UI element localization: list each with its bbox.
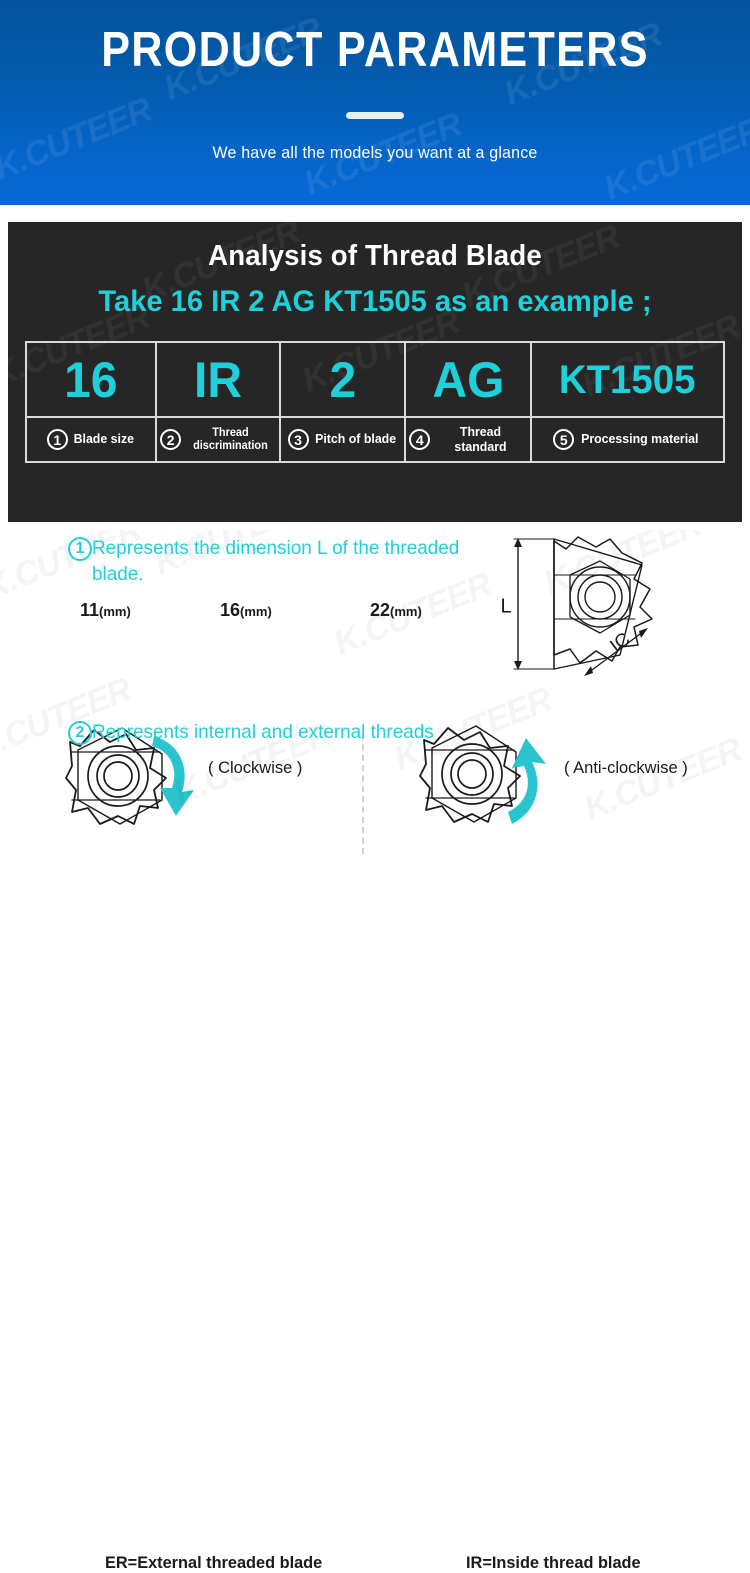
code-label-text: Processing material [581,432,698,446]
code-label-thread-standard: 4 Thread standard [406,418,532,461]
caption-internal-blade: IR=Inside thread blade [466,1553,641,1573]
panel-title: Analysis of Thread Blade [26,240,723,273]
circled-number-icon: 5 [553,429,574,450]
insert-dimension-svg: L IC [492,527,742,682]
code-label-text: Thread discrimination [187,427,273,452]
blade-size-unit: (mm) [390,604,422,619]
circled-number-icon: 2 [68,721,92,745]
code-label-thread-discrimination: 2 Thread discrimination [157,418,281,461]
blade-size-value: 22 [370,600,390,620]
column-divider [362,734,364,854]
rotation-label-anticlockwise: ( Anti-clockwise ) [564,758,688,778]
section2-text: Represents internal and external threads [92,720,434,746]
blade-size-unit: (mm) [240,604,272,619]
code-label-blade-size: 1 Blade size [27,418,157,461]
clockwise-arrow-icon [152,736,194,816]
code-value: IR [194,355,242,405]
code-value: AG [432,355,504,405]
code-cell-thread-discrimination: IR [157,343,281,416]
blade-size-value: 16 [220,600,240,620]
code-value: 16 [64,355,117,405]
internal-thread-column: ( Anti-clockwise ) [418,720,692,840]
blade-dimension-diagram: L IC [492,527,742,687]
code-labels-row: 1 Blade size 2 Thread discrimination 3 P… [27,416,723,461]
code-cell-thread-standard: AG [406,343,532,416]
code-label-text: Thread standard [437,425,525,453]
page-subtitle: We have all the models you want at a gla… [23,143,728,163]
section2-heading: 2 Represents internal and external threa… [68,720,444,746]
code-cell-processing-material: KT1505 [532,343,723,416]
panel-example-line: Take 16 IR 2 AG KT1505 as an example ; [19,285,731,319]
circled-number-icon: 2 [160,429,181,450]
rotation-label-clockwise: ( Clockwise ) [208,758,302,778]
blade-size-value: 11 [80,600,99,620]
blade-size-item: 16(mm) [220,600,370,621]
caption-external-blade: ER=External threaded blade [105,1553,322,1573]
circled-number-icon: 4 [409,429,430,450]
blade-size-list: 11(mm) 16(mm) 22(mm) [68,600,488,621]
blade-size-item: 22(mm) [370,600,422,621]
page-title: PRODUCT PARAMETERS [45,25,705,76]
section-thread-direction: 2 Represents internal and external threa… [0,720,750,852]
circled-number-icon: 3 [288,429,309,450]
code-value: 2 [329,355,356,405]
code-values-row: 16 IR 2 AG KT1505 [27,343,723,416]
code-cell-pitch: 2 [281,343,406,416]
title-divider [346,112,404,119]
code-label-pitch: 3 Pitch of blade [281,418,406,461]
code-label-text: Pitch of blade [315,432,396,446]
code-label-processing-material: 5 Processing material [532,418,723,461]
section1-text: Represents the dimension L of the thread… [92,536,476,587]
circled-number-icon: 1 [68,537,92,561]
thread-blade-analysis-panel: K.CUTEER K.CUTEER K.CUTEER K.CUTEER K.CU… [8,222,742,522]
section-blade-dimension: 1 Represents the dimension L of the thre… [0,522,750,682]
blade-size-item: 11(mm) [80,600,220,621]
dimension-label-L: L [500,595,511,617]
section1-heading: 1 Represents the dimension L of the thre… [68,536,488,587]
code-value: KT1505 [559,360,696,400]
blade-size-unit: (mm) [99,604,131,619]
code-label-text: Blade size [73,432,133,446]
dimension-label-IC: IC [606,629,634,657]
page-header: K.CUTEER K.CUTEER K.CUTEER K.CUTEER K.CU… [0,0,750,205]
circled-number-icon: 1 [47,429,68,450]
code-cell-blade-size: 16 [27,343,157,416]
code-breakdown-table: 16 IR 2 AG KT1505 1 Blade size [25,341,725,463]
